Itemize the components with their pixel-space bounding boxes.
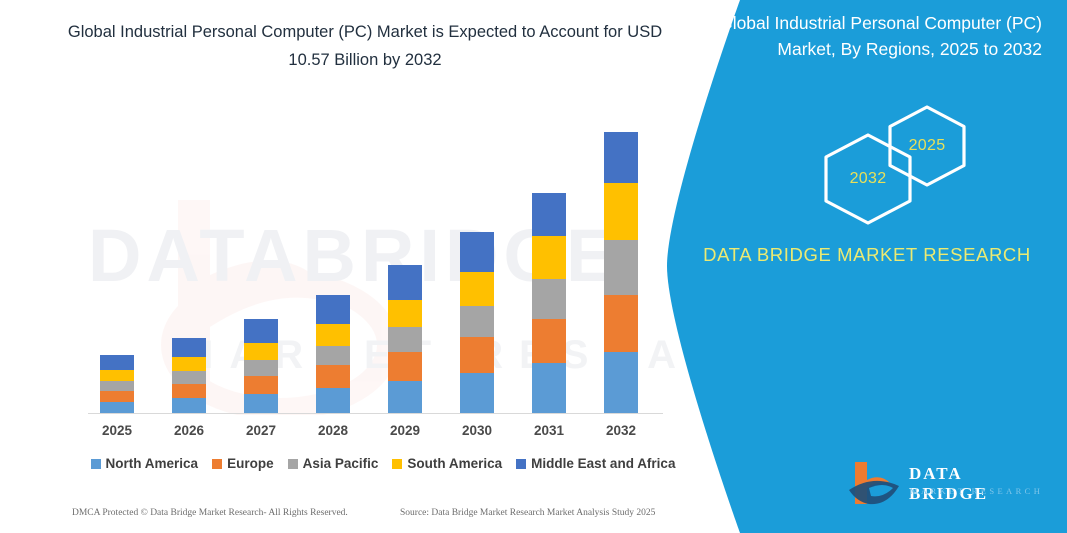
- bar-segment-europe[interactable]: [316, 365, 350, 388]
- legend-label: Asia Pacific: [303, 456, 379, 471]
- footer-source: Source: Data Bridge Market Research Mark…: [400, 508, 655, 518]
- bar-segment-north-america[interactable]: [388, 381, 422, 413]
- bar-segment-middle-east-and-africa[interactable]: [460, 232, 494, 272]
- bar-group: [100, 355, 134, 413]
- panel-title: Global Industrial Personal Computer (PC)…: [692, 10, 1042, 62]
- bar-group: [532, 193, 566, 413]
- x-axis-line: [88, 413, 663, 414]
- footer-copyright: DMCA Protected © Data Bridge Market Rese…: [72, 508, 348, 518]
- bar-segment-asia-pacific[interactable]: [604, 240, 638, 295]
- bar-segment-asia-pacific[interactable]: [460, 306, 494, 338]
- bar-segment-middle-east-and-africa[interactable]: [532, 193, 566, 236]
- legend-swatch-icon: [288, 459, 298, 469]
- x-axis-tick-2025: 2025: [81, 423, 153, 438]
- bar-segment-south-america[interactable]: [532, 236, 566, 279]
- legend-label: Europe: [227, 456, 274, 471]
- bar-segment-europe[interactable]: [172, 384, 206, 398]
- bar-segment-middle-east-and-africa[interactable]: [244, 319, 278, 343]
- bar-segment-europe[interactable]: [388, 352, 422, 381]
- bar-segment-south-america[interactable]: [604, 183, 638, 240]
- bar-segment-south-america[interactable]: [316, 324, 350, 346]
- bar-segment-north-america[interactable]: [244, 394, 278, 413]
- bar-group: [316, 295, 350, 413]
- legend-swatch-icon: [392, 459, 402, 469]
- legend-label: North America: [106, 456, 199, 471]
- bar-group: [388, 265, 422, 413]
- bar-segment-europe[interactable]: [604, 295, 638, 352]
- bar-segment-north-america[interactable]: [460, 373, 494, 413]
- x-axis-tick-2027: 2027: [225, 423, 297, 438]
- bar-segment-north-america[interactable]: [316, 388, 350, 413]
- chart-legend: North AmericaEuropeAsia PacificSouth Ame…: [88, 456, 678, 471]
- bar-segment-north-america[interactable]: [604, 352, 638, 413]
- bar-segment-asia-pacific[interactable]: [316, 346, 350, 366]
- hexagon-year-badges: 2025 2032: [762, 104, 1062, 214]
- stacked-bar-2025[interactable]: [100, 355, 134, 413]
- bar-segment-middle-east-and-africa[interactable]: [172, 338, 206, 357]
- bar-group: [172, 338, 206, 413]
- legend-item-europe[interactable]: Europe: [212, 456, 274, 471]
- bridge-logo-icon: [847, 460, 905, 510]
- x-axis-tick-2028: 2028: [297, 423, 369, 438]
- hexagon-badge-start-year: 2032: [820, 132, 916, 226]
- legend-label: South America: [407, 456, 502, 471]
- legend-label: Middle East and Africa: [531, 456, 675, 471]
- legend-swatch-icon: [516, 459, 526, 469]
- x-axis-tick-2029: 2029: [369, 423, 441, 438]
- bar-segment-asia-pacific[interactable]: [532, 279, 566, 319]
- stacked-bar-2027[interactable]: [244, 319, 278, 413]
- logo-text-sub: MARKET RESEARCH: [910, 486, 1043, 496]
- x-axis-tick-2032: 2032: [585, 423, 657, 438]
- hexagon-label-end-year: 2025: [909, 137, 946, 155]
- x-axis-tick-2030: 2030: [441, 423, 513, 438]
- legend-item-south-america[interactable]: South America: [392, 456, 502, 471]
- stacked-bar-chart: 20252026202720282029203020312032: [0, 0, 720, 533]
- bar-segment-south-america[interactable]: [388, 300, 422, 327]
- bar-segment-north-america[interactable]: [172, 398, 206, 413]
- bar-segment-asia-pacific[interactable]: [100, 381, 134, 390]
- bar-segment-europe[interactable]: [100, 391, 134, 402]
- infographic-page: DATABRIDGE MARKET RESEARCH Global Indust…: [0, 0, 1067, 533]
- bar-segment-middle-east-and-africa[interactable]: [316, 295, 350, 324]
- stacked-bar-2032[interactable]: [604, 132, 638, 413]
- stacked-bar-2030[interactable]: [460, 232, 494, 413]
- hexagon-label-start-year: 2032: [850, 170, 887, 188]
- chart-area: DATABRIDGE MARKET RESEARCH Global Indust…: [0, 0, 720, 533]
- bar-segment-middle-east-and-africa[interactable]: [604, 132, 638, 183]
- legend-item-asia-pacific[interactable]: Asia Pacific: [288, 456, 379, 471]
- bar-segment-asia-pacific[interactable]: [172, 371, 206, 383]
- stacked-bar-2028[interactable]: [316, 295, 350, 413]
- bar-segment-europe[interactable]: [460, 337, 494, 372]
- stacked-bar-2029[interactable]: [388, 265, 422, 413]
- right-panel: Global Industrial Personal Computer (PC)…: [667, 0, 1067, 533]
- data-bridge-logo: DATA BRIDGE MARKET RESEARCH: [847, 458, 1047, 520]
- bar-segment-asia-pacific[interactable]: [244, 360, 278, 375]
- x-axis-tick-2031: 2031: [513, 423, 585, 438]
- legend-swatch-icon: [212, 459, 222, 469]
- bar-segment-south-america[interactable]: [460, 272, 494, 306]
- logo-text-main: DATA BRIDGE: [909, 464, 1047, 504]
- bar-segment-europe[interactable]: [532, 319, 566, 364]
- bar-segment-north-america[interactable]: [532, 363, 566, 413]
- x-axis-tick-2026: 2026: [153, 423, 225, 438]
- stacked-bar-2026[interactable]: [172, 338, 206, 413]
- stacked-bar-2031[interactable]: [532, 193, 566, 413]
- bar-segment-south-america[interactable]: [244, 343, 278, 360]
- bar-segment-south-america[interactable]: [172, 357, 206, 371]
- brand-name: DATA BRIDGE MARKET RESEARCH: [697, 240, 1037, 270]
- bar-segment-middle-east-and-africa[interactable]: [100, 355, 134, 370]
- bar-group: [244, 319, 278, 413]
- legend-item-north-america[interactable]: North America: [91, 456, 199, 471]
- legend-swatch-icon: [91, 459, 101, 469]
- bar-segment-south-america[interactable]: [100, 370, 134, 381]
- bar-segment-north-america[interactable]: [100, 402, 134, 413]
- legend-item-middle-east-and-africa[interactable]: Middle East and Africa: [516, 456, 675, 471]
- bar-segment-middle-east-and-africa[interactable]: [388, 265, 422, 299]
- bar-group: [460, 232, 494, 413]
- bar-group: [604, 132, 638, 413]
- bar-segment-europe[interactable]: [244, 376, 278, 394]
- bar-segment-asia-pacific[interactable]: [388, 327, 422, 352]
